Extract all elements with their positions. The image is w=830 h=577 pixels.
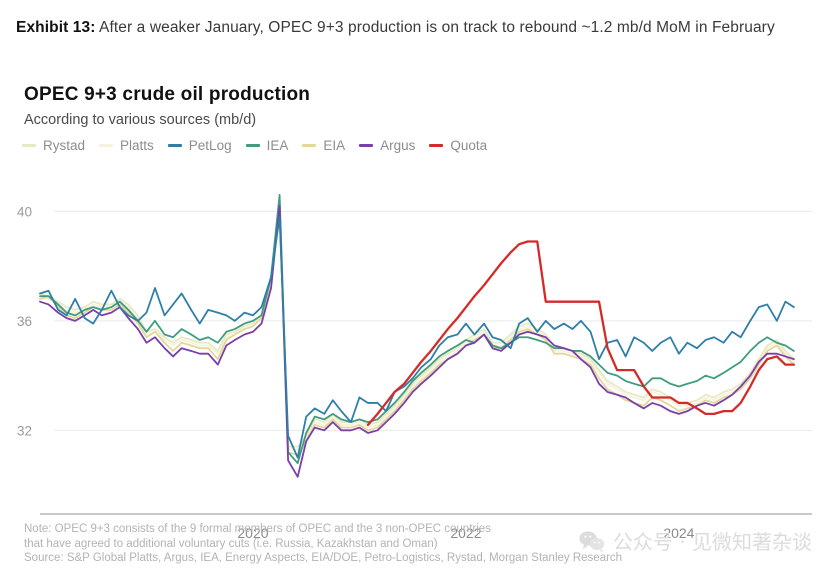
chart-footnote: Note: OPEC 9+3 consists of the 9 formal … — [24, 522, 622, 566]
y-axis-tick-label: 36 — [17, 314, 32, 329]
line-chart-svg: 323640202020222024 — [0, 74, 830, 577]
x-axis-tick-label: 2024 — [663, 525, 694, 541]
series-line-platts — [40, 200, 794, 449]
y-axis-tick-label: 40 — [17, 204, 32, 219]
exhibit-caption: After a weaker January, OPEC 9+3 product… — [99, 19, 775, 36]
exhibit-header: Exhibit 13: After a weaker January, OPEC… — [0, 0, 830, 42]
plot-area: 323640202020222024 — [0, 74, 830, 577]
chart-card: OPEC 9+3 crude oil production According … — [0, 74, 830, 577]
series-line-petlog — [40, 217, 794, 458]
exhibit-label: Exhibit 13: — [16, 19, 95, 36]
y-axis-tick-label: 32 — [17, 423, 32, 438]
series-line-argus — [40, 206, 794, 477]
